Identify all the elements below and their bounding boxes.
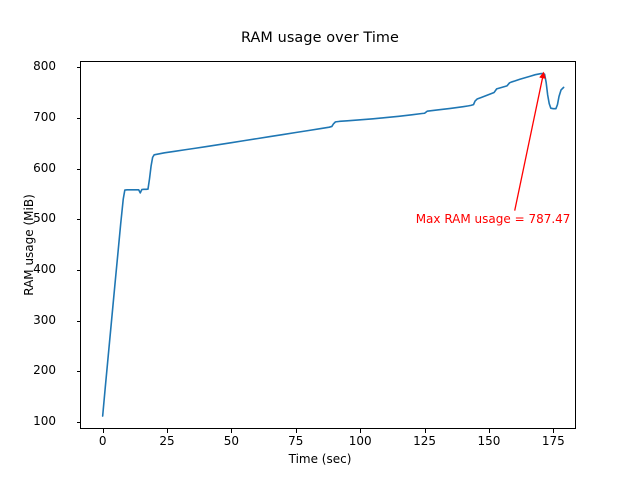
x-tick-label: 100 bbox=[330, 434, 390, 448]
y-tick-label: 700 bbox=[0, 110, 56, 124]
x-tick-mark bbox=[489, 429, 490, 433]
x-tick-mark bbox=[296, 429, 297, 433]
x-tick-mark bbox=[231, 429, 232, 433]
x-tick-label: 75 bbox=[266, 434, 326, 448]
y-tick-mark bbox=[77, 118, 81, 119]
y-tick-mark bbox=[77, 219, 81, 220]
matplotlib-figure: RAM usage over Time RAM usage (MiB) Time… bbox=[0, 0, 640, 480]
x-tick-label: 25 bbox=[137, 434, 197, 448]
x-tick-label: 125 bbox=[395, 434, 455, 448]
y-tick-mark bbox=[77, 270, 81, 271]
y-tick-label: 100 bbox=[0, 414, 56, 428]
plot-area bbox=[80, 61, 576, 429]
y-tick-mark bbox=[77, 321, 81, 322]
y-tick-label: 800 bbox=[0, 59, 56, 73]
y-tick-mark bbox=[77, 371, 81, 372]
max-ram-annotation-label: Max RAM usage = 787.47 bbox=[416, 212, 571, 226]
x-tick-mark bbox=[553, 429, 554, 433]
x-tick-label: 150 bbox=[459, 434, 519, 448]
y-tick-mark bbox=[77, 422, 81, 423]
x-tick-mark bbox=[425, 429, 426, 433]
chart-title: RAM usage over Time bbox=[0, 30, 640, 46]
x-tick-mark bbox=[167, 429, 168, 433]
y-tick-label: 600 bbox=[0, 161, 56, 175]
y-tick-label: 200 bbox=[0, 363, 56, 377]
x-tick-label: 0 bbox=[73, 434, 133, 448]
y-tick-label: 300 bbox=[0, 313, 56, 327]
x-tick-label: 175 bbox=[523, 434, 583, 448]
x-tick-mark bbox=[360, 429, 361, 433]
y-tick-label: 400 bbox=[0, 262, 56, 276]
y-tick-mark bbox=[77, 169, 81, 170]
x-tick-label: 50 bbox=[201, 434, 261, 448]
y-tick-label: 500 bbox=[0, 211, 56, 225]
x-axis-label: Time (sec) bbox=[0, 452, 640, 466]
y-tick-mark bbox=[77, 67, 81, 68]
x-tick-mark bbox=[103, 429, 104, 433]
